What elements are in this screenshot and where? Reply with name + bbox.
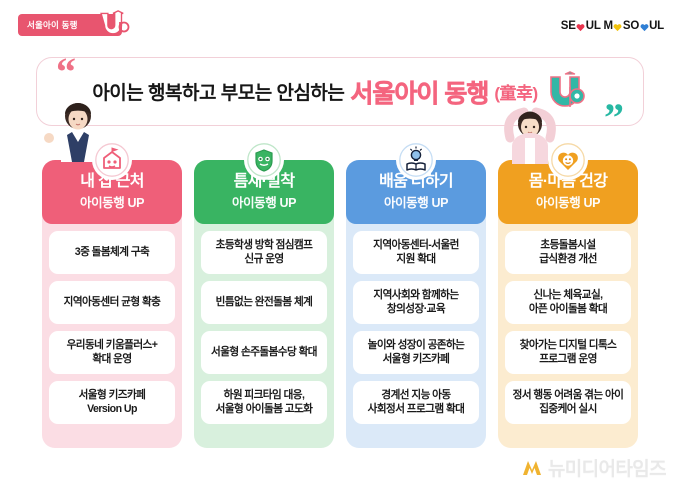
card-item[interactable]: 지역아동센터-서울런지원 확대 <box>353 231 479 274</box>
infographic-poster: 서울아이 동행 SE UL M SO UL “ ” 아이는 행복하고 부모는 안… <box>0 0 678 491</box>
card-gap-close: 틈새·밀착 아이동행 UP 초등학생 방학 점심캠프신규 운영빈틈없는 완전돌봄… <box>194 160 334 448</box>
card-item[interactable]: 찾아가는 디지털 디톡스프로그램 운영 <box>505 331 631 374</box>
heart-smiley-icon <box>548 140 588 180</box>
watermark: 뉴미디어타임즈 <box>521 454 666 481</box>
seoul-my-soul-logo: SE UL M SO UL <box>561 20 664 32</box>
headline-brand-text: 서울아이 동행 <box>350 74 488 110</box>
card-subtitle: 아이동행 UP <box>384 192 448 211</box>
heart-yellow-icon <box>613 23 622 32</box>
card-item[interactable]: 놀이와 성장이 공존하는서울형 키즈카페 <box>353 331 479 374</box>
card-item[interactable]: 지역사회와 함께하는창의성장·교육 <box>353 281 479 324</box>
card-items: 초등돌봄시설급식환경 개선신나는 체육교실,아픈 아이돌봄 확대찾아가는 디지털… <box>505 231 631 424</box>
watermark-label: 뉴미디어타임즈 <box>548 454 666 481</box>
logo-text-part2: UL M <box>586 20 613 32</box>
card-near-home: 내 집 근처 아이동행 UP 3중 돌봄체계 구축지역아동센터 균형 확충우리동… <box>42 160 182 448</box>
card-item[interactable]: 서울형 손주돌봄수당 확대 <box>201 331 327 374</box>
quote-close-mark: ” <box>604 98 624 138</box>
logo-text-part3: SO <box>623 20 639 32</box>
card-subtitle: 아이동행 UP <box>232 192 296 211</box>
card-item[interactable]: 초등돌봄시설급식환경 개선 <box>505 231 631 274</box>
up-arrow-logo-small <box>98 8 132 38</box>
card-item[interactable]: 3중 돌봄체계 구축 <box>49 231 175 274</box>
card-body-mind-health: 몸·마음 건강 아이동행 UP 초등돌봄시설급식환경 개선신나는 체육교실,아픈… <box>498 160 638 448</box>
card-item[interactable]: 신나는 체육교실,아픈 아이돌봄 확대 <box>505 281 631 324</box>
n-mark-icon <box>521 457 543 479</box>
card-subtitle: 아이동행 UP <box>536 192 600 211</box>
card-items: 초등학생 방학 점심캠프신규 운영빈틈없는 완전돌봄 체계서울형 손주돌봄수당 … <box>201 231 327 424</box>
card-item[interactable]: 우리동네 키움플러스+확대 운영 <box>49 331 175 374</box>
heart-blue-icon <box>640 23 649 32</box>
card-grid: 내 집 근처 아이동행 UP 3중 돌봄체계 구축지역아동센터 균형 확충우리동… <box>42 160 638 448</box>
house-flag-icon <box>92 140 132 180</box>
headline-plain-text: 아이는 행복하고 부모는 안심하는 <box>92 78 344 105</box>
logo-text-part4: UL <box>649 20 664 32</box>
card-item[interactable]: 서울형 키즈카페Version Up <box>49 381 175 424</box>
card-item[interactable]: 빈틈없는 완전돌봄 체계 <box>201 281 327 324</box>
book-lightbulb-icon <box>396 140 436 180</box>
card-items: 지역아동센터-서울런지원 확대지역사회와 함께하는창의성장·교육놀이와 성장이 … <box>353 231 479 424</box>
card-item[interactable]: 정서 행동 어려움 겪는 아이집중케어 실시 <box>505 381 631 424</box>
card-items: 3중 돌봄체계 구축지역아동센터 균형 확충우리동네 키움플러스+확대 운영서울… <box>49 231 175 424</box>
quote-open-mark: “ <box>56 52 76 92</box>
card-item[interactable]: 경계선 지능 아동사회정서 프로그램 확대 <box>353 381 479 424</box>
card-subtitle: 아이동행 UP <box>80 192 144 211</box>
shield-face-icon <box>244 140 284 180</box>
card-learning-plus: 배움 더하기 아이동행 UP 지역아동센터-서울런지원 확대지역사회와 함께하는… <box>346 160 486 448</box>
card-item[interactable]: 지역아동센터 균형 확충 <box>49 281 175 324</box>
heart-red-icon <box>576 23 585 32</box>
card-item[interactable]: 초등학생 방학 점심캠프신규 운영 <box>201 231 327 274</box>
card-item[interactable]: 하원 피크타임 대응,서울형 아이돌봄 고도화 <box>201 381 327 424</box>
brand-badge-label: 서울아이 동행 <box>18 19 78 31</box>
logo-text-part1: SE <box>561 20 576 32</box>
